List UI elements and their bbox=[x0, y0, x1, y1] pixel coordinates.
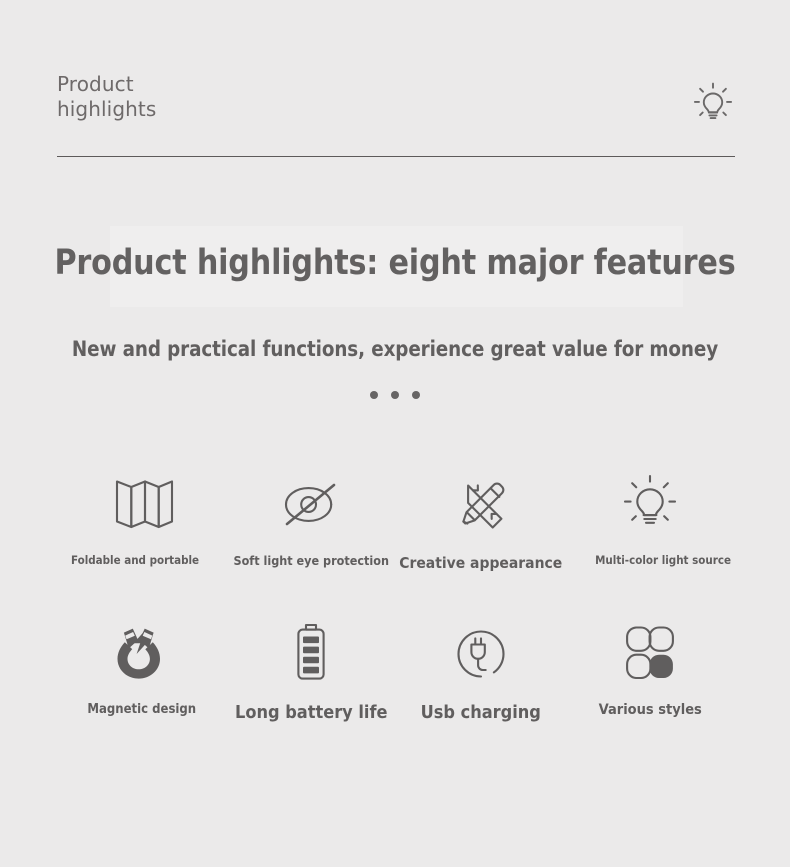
feature-magnetic-design: Magnetic design bbox=[57, 616, 227, 723]
dot bbox=[412, 391, 420, 399]
feature-label: Creative appearance bbox=[396, 554, 566, 572]
feature-row: Magnetic design Long battery life bbox=[57, 616, 735, 723]
eye-off-icon bbox=[276, 468, 346, 540]
feature-long-battery-life: Long battery life bbox=[227, 616, 397, 723]
feature-creative-appearance: Creative appearance bbox=[396, 468, 566, 572]
feature-various-styles: Various styles bbox=[566, 616, 736, 723]
battery-full-icon bbox=[285, 616, 337, 688]
dot bbox=[370, 391, 378, 399]
feature-label: Soft light eye protection bbox=[227, 554, 397, 569]
feature-label: Multi-color light source bbox=[562, 554, 740, 568]
magnet-icon bbox=[108, 616, 176, 688]
feature-row: Foldable and portable Soft light eye pro… bbox=[57, 468, 735, 572]
pencil-ruler-icon bbox=[449, 468, 513, 540]
header-divider bbox=[57, 156, 735, 157]
four-circles-icon bbox=[619, 616, 681, 688]
plug-circle-icon bbox=[449, 616, 513, 688]
dot bbox=[391, 391, 399, 399]
lightbulb-rays-icon bbox=[618, 468, 682, 540]
feature-soft-light-eye-protection: Soft light eye protection bbox=[227, 468, 397, 572]
feature-label: Magnetic design bbox=[57, 702, 227, 717]
product-highlights-page: Product highlights Product highlights: e… bbox=[0, 0, 790, 867]
feature-label: Long battery life bbox=[227, 702, 397, 723]
page-title: Product highlights bbox=[57, 72, 156, 122]
hero-dots bbox=[0, 391, 790, 399]
feature-label: Various styles bbox=[566, 702, 736, 719]
folding-screen-icon bbox=[109, 468, 175, 540]
hero-subtitle: New and practical functions, experience … bbox=[12, 337, 778, 361]
feature-label: Foldable and portable bbox=[43, 554, 241, 568]
page-header: Product highlights bbox=[57, 62, 735, 157]
feature-usb-charging: Usb charging bbox=[396, 616, 566, 723]
feature-label: Usb charging bbox=[396, 702, 566, 723]
hero-title: Product highlights: eight major features bbox=[16, 243, 774, 283]
feature-foldable-and-portable: Foldable and portable bbox=[57, 468, 227, 572]
feature-multi-color-light-source: Multi-color light source bbox=[566, 468, 736, 572]
lightbulb-icon bbox=[691, 80, 735, 126]
feature-grid: Foldable and portable Soft light eye pro… bbox=[57, 468, 735, 724]
